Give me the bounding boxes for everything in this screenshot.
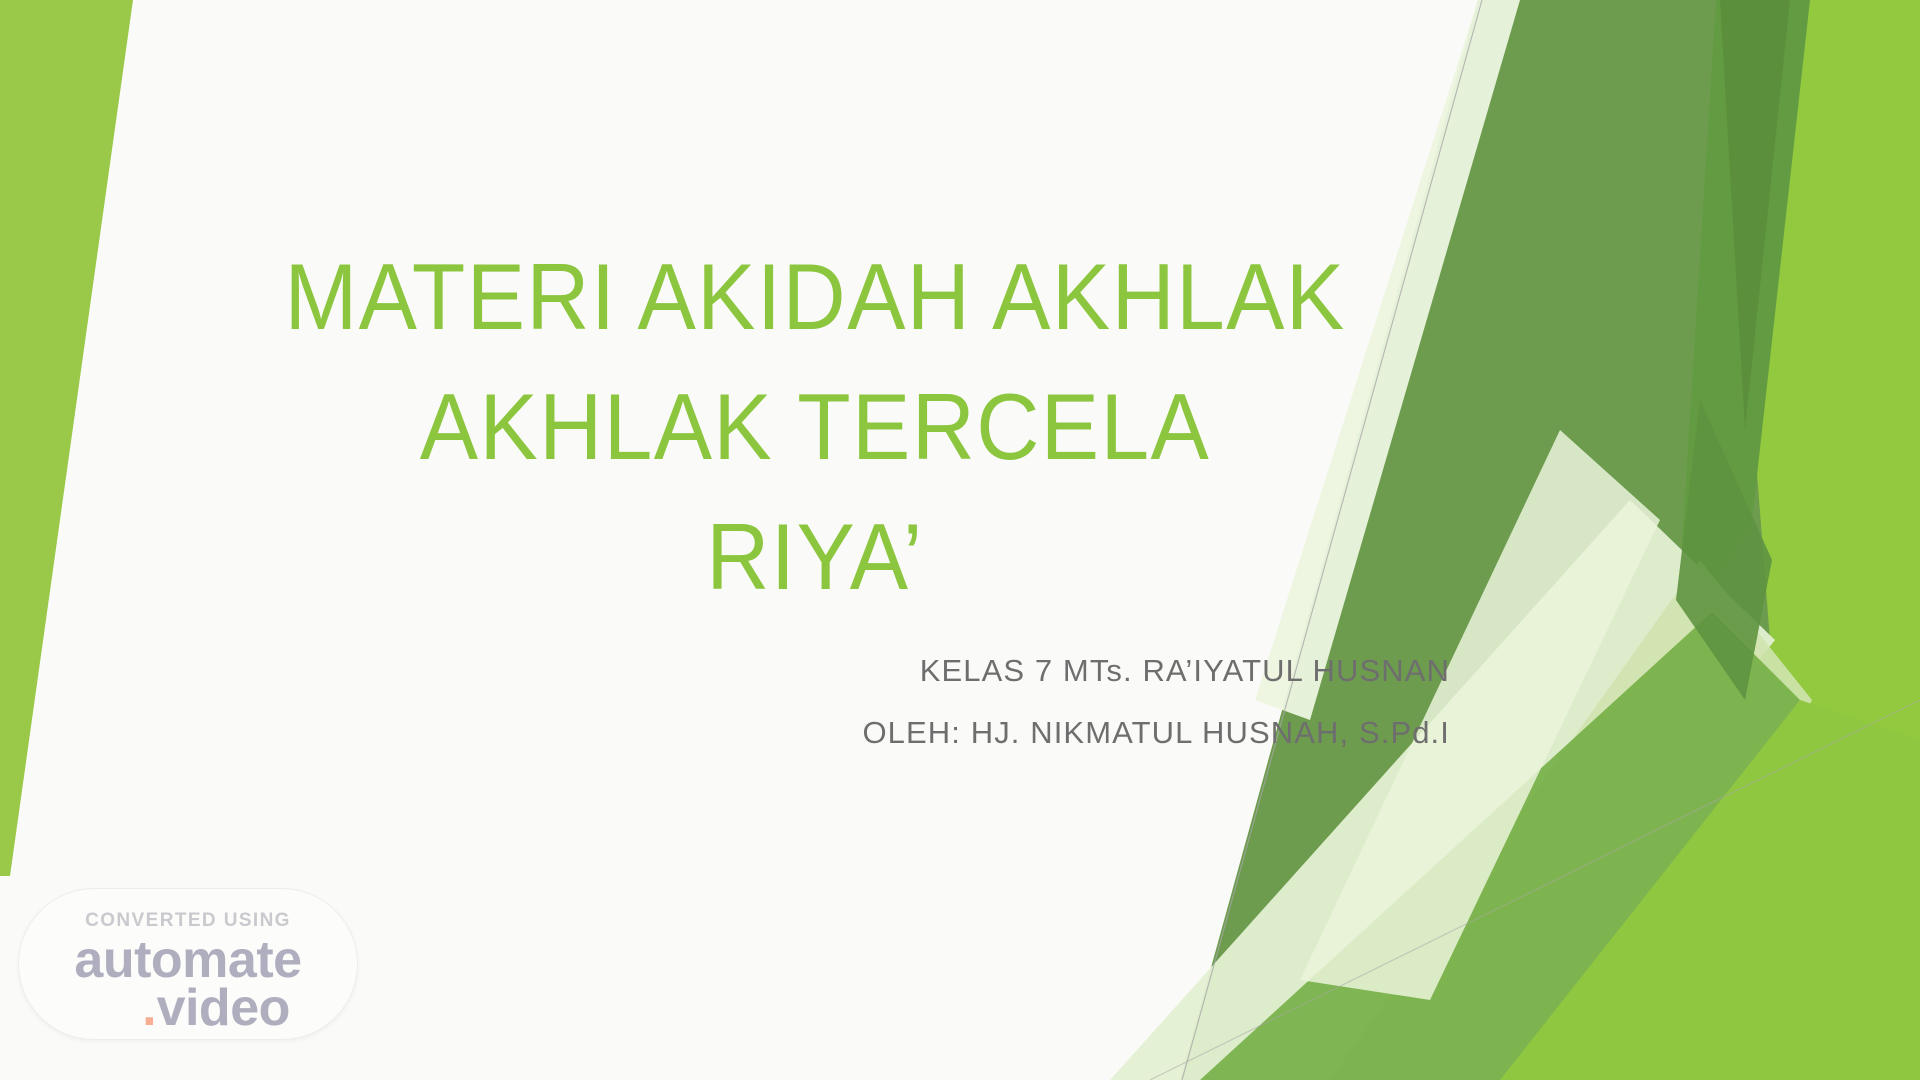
watermark-tld-row: . video bbox=[142, 981, 290, 1035]
watermark-eyebrow-label: CONVERTED USING bbox=[85, 911, 291, 931]
presentation-slide: MATERI AKIDAH AKHLAK AKHLAK TERCELA RIYA… bbox=[0, 0, 1920, 1080]
slide-subtitle: KELAS 7 MTs. RA’IYATUL HUSNAN OLEH: HJ. … bbox=[640, 640, 1450, 764]
subtitle-line-class: KELAS 7 MTs. RA’IYATUL HUSNAN bbox=[640, 640, 1450, 702]
watermark-dot-glyph: . bbox=[142, 981, 156, 1035]
title-line-1: MATERI AKIDAH AKHLAK bbox=[197, 232, 1434, 362]
subtitle-line-author: OLEH: HJ. NIKMATUL HUSNAH, S.Pd.I bbox=[640, 702, 1450, 764]
watermark-tld-label: video bbox=[157, 981, 290, 1035]
title-line-2: AKHLAK TERCELA bbox=[197, 362, 1434, 492]
converted-using-watermark-badge: CONVERTED USING automate . video bbox=[18, 888, 358, 1040]
title-line-3: RIYA’ bbox=[197, 492, 1434, 622]
slide-title: MATERI AKIDAH AKHLAK AKHLAK TERCELA RIYA… bbox=[150, 232, 1480, 622]
